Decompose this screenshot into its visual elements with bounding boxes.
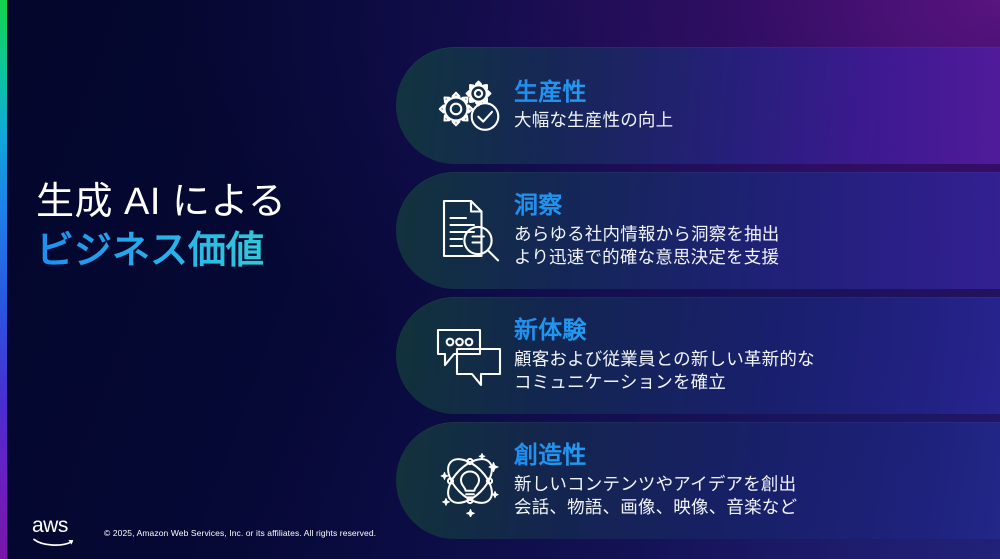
value-card-text: 新体験 顧客および従業員との新しい革新的な コミュニケーションを確立	[514, 317, 1000, 394]
aws-smile-icon	[32, 537, 78, 548]
title-line-1: 生成 AI による	[36, 178, 366, 227]
card-desc-line: 顧客および従業員との新しい革新的な	[514, 348, 984, 371]
card-heading: 洞察	[514, 192, 984, 220]
footer: aws © 2025, Amazon Web Services, Inc. or…	[32, 515, 376, 545]
atom-lightbulb-icon	[396, 422, 514, 539]
value-card-text: 創造性 新しいコンテンツやアイデアを創出 会話、物語、画像、映像、音楽など	[514, 442, 1000, 519]
card-desc-line: コミュニケーションを確立	[514, 371, 984, 394]
value-card-productivity[interactable]: 生産性 大幅な生産性の向上	[396, 47, 1000, 164]
card-heading: 生産性	[514, 79, 984, 107]
page-title: 生成 AI による ビジネス価値	[36, 178, 366, 275]
value-card-creativity[interactable]: 創造性 新しいコンテンツやアイデアを創出 会話、物語、画像、映像、音楽など	[396, 422, 1000, 539]
aws-logo-text: aws	[32, 515, 78, 536]
card-heading: 新体験	[514, 317, 984, 345]
value-card-text: 生産性 大幅な生産性の向上	[514, 79, 1000, 133]
value-card-new-experience[interactable]: 新体験 顧客および従業員との新しい革新的な コミュニケーションを確立	[396, 297, 1000, 414]
card-desc-line: 新しいコンテンツやアイデアを創出	[514, 473, 984, 496]
chat-bubbles-icon	[396, 297, 514, 414]
copyright-text: © 2025, Amazon Web Services, Inc. or its…	[104, 528, 376, 545]
left-accent-bar	[0, 0, 7, 559]
slide-canvas: 生成 AI による ビジネス価値	[0, 0, 1000, 559]
card-heading: 創造性	[514, 442, 984, 470]
aws-logo: aws	[32, 515, 78, 545]
title-line-2: ビジネス価値	[36, 227, 366, 276]
card-desc-line: より迅速で的確な意思決定を支援	[514, 246, 984, 269]
document-magnifier-icon	[396, 172, 514, 289]
value-card-insight[interactable]: 洞察 あらゆる社内情報から洞察を抽出 より迅速で的確な意思決定を支援	[396, 172, 1000, 289]
gears-check-icon	[396, 47, 514, 164]
card-desc-line: 会話、物語、画像、映像、音楽など	[514, 496, 984, 519]
value-card-list: 生産性 大幅な生産性の向上	[396, 47, 1000, 547]
value-card-text: 洞察 あらゆる社内情報から洞察を抽出 より迅速で的確な意思決定を支援	[514, 192, 1000, 269]
card-desc-line: あらゆる社内情報から洞察を抽出	[514, 223, 984, 246]
card-desc-line: 大幅な生産性の向上	[514, 109, 984, 132]
